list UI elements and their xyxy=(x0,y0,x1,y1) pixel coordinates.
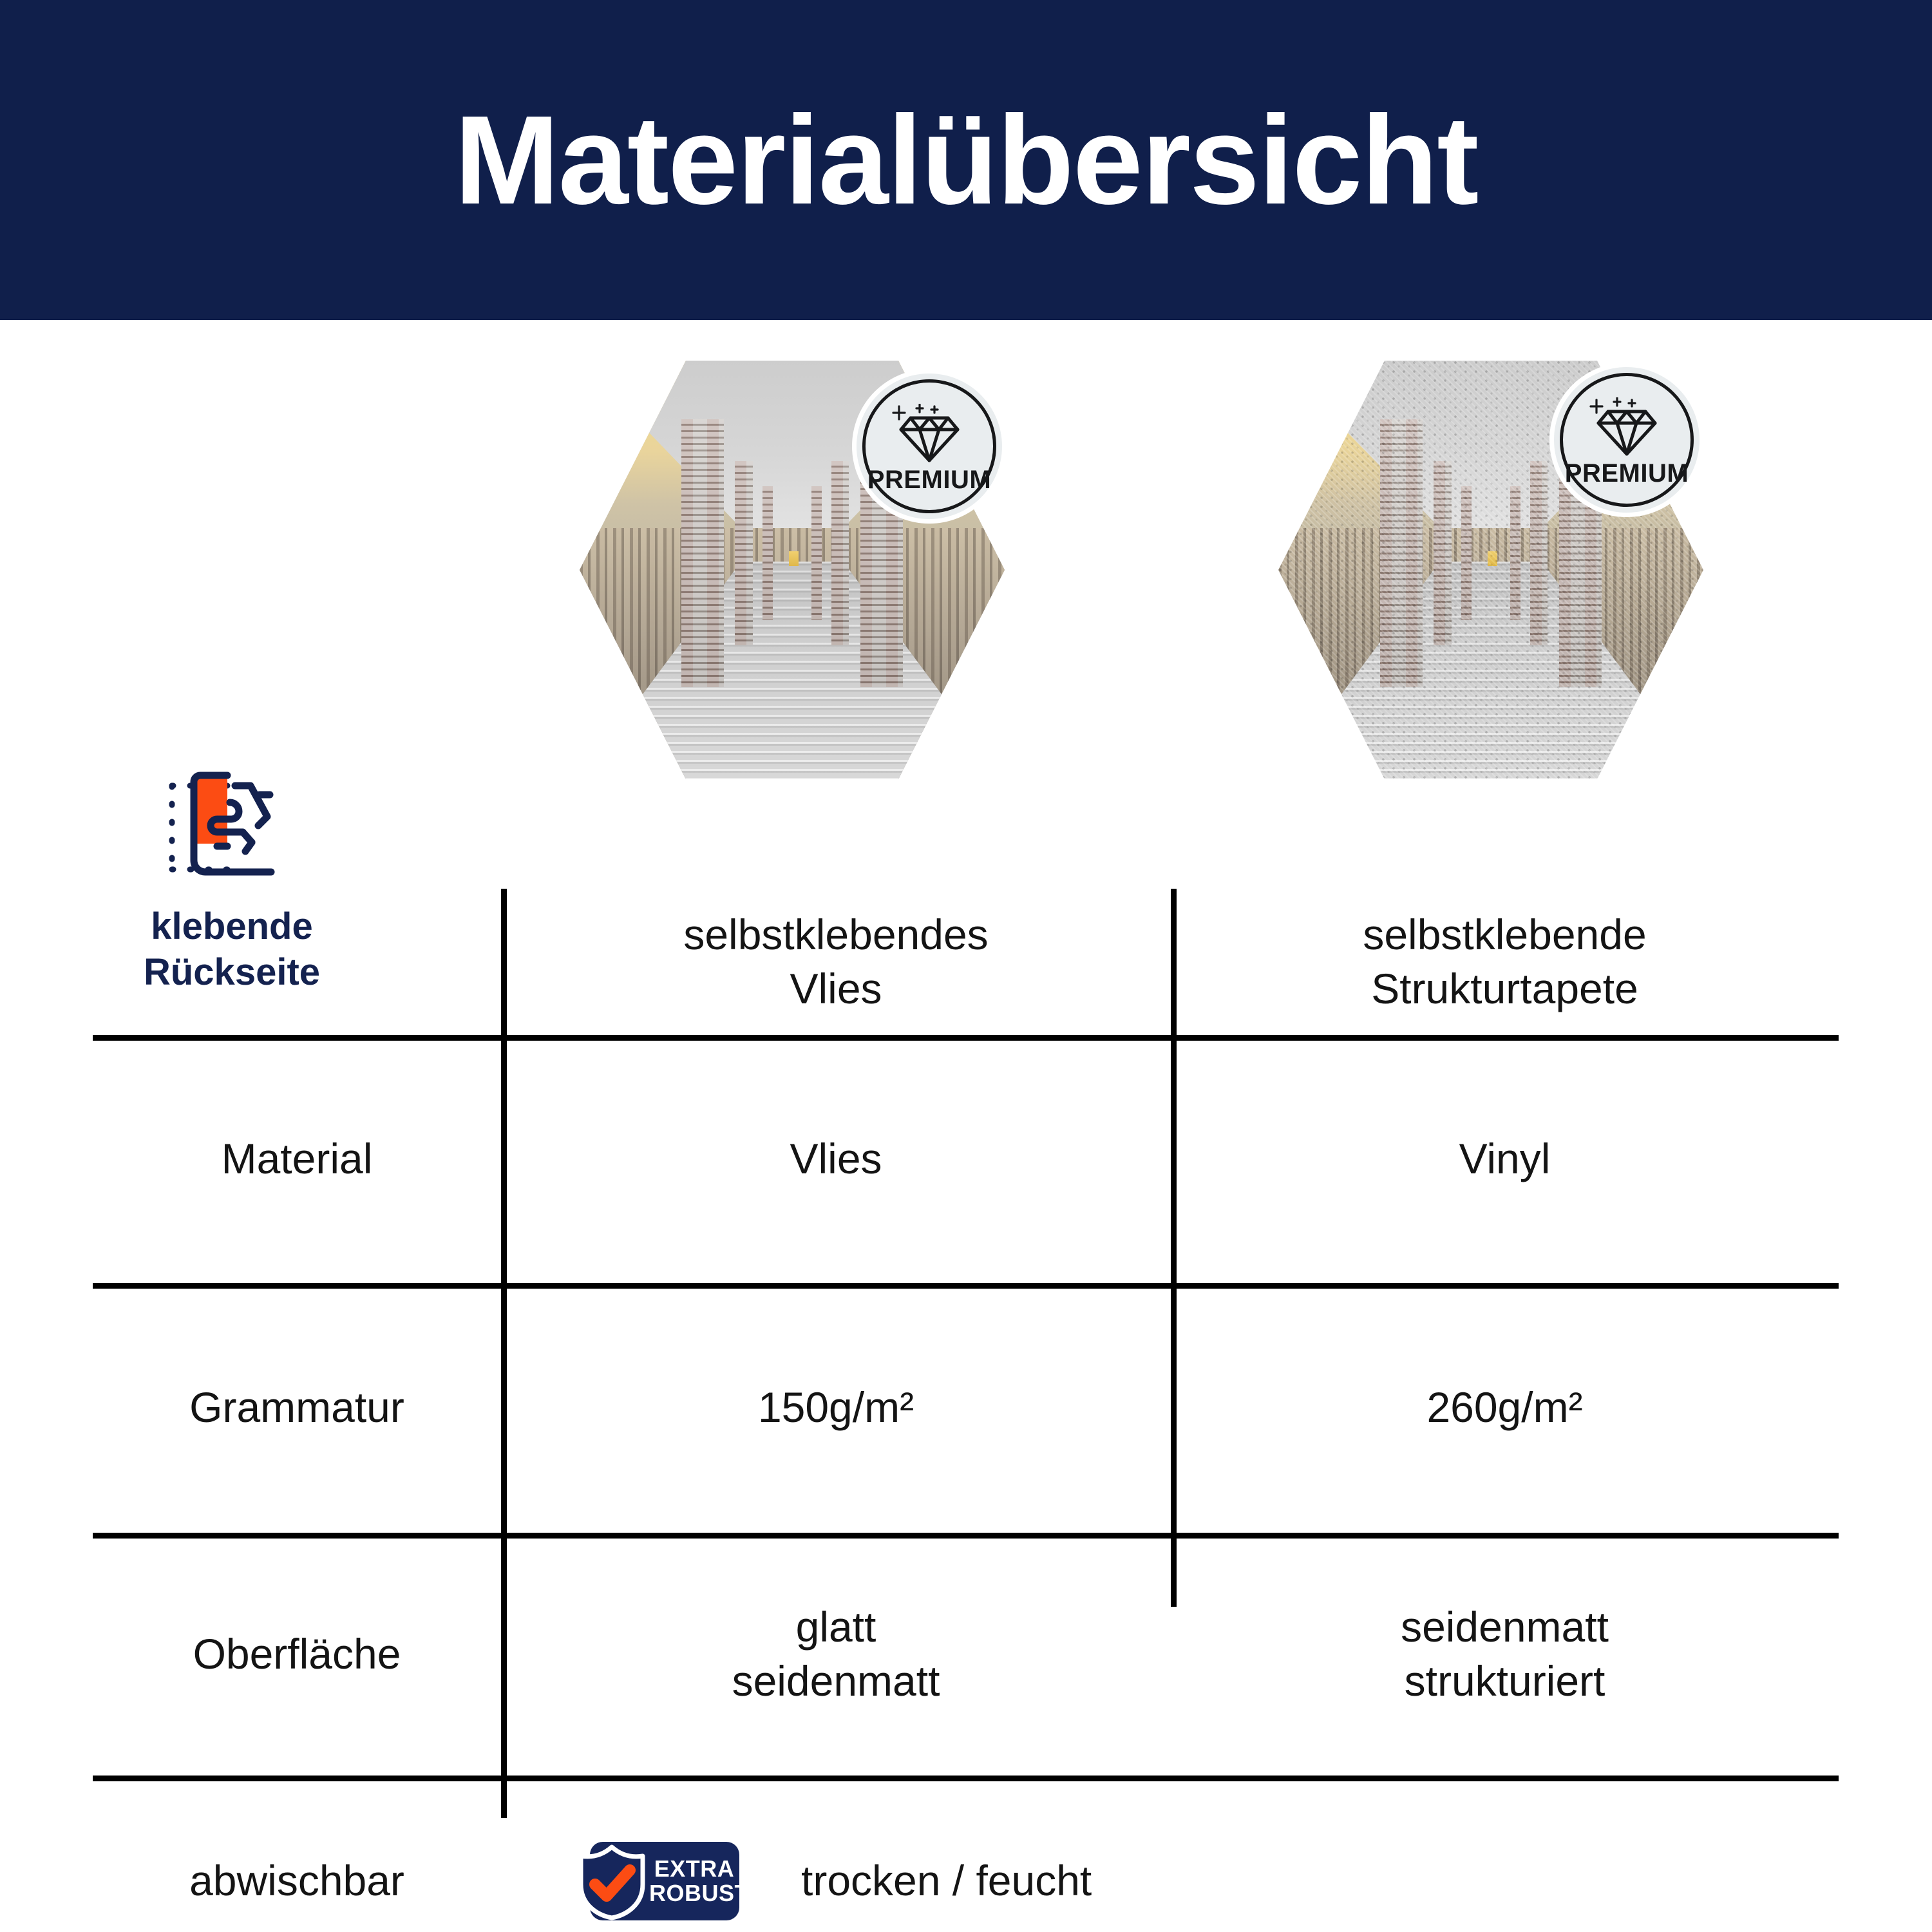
abwischbar-value-cell: EXTRA ROBUST trocken / feucht xyxy=(501,1776,1839,1932)
oberflaeche-value-strukturtapete: seidenmatt strukturiert xyxy=(1171,1533,1839,1776)
table-row: selbstklebendes Vlies selbstklebende Str… xyxy=(93,889,1839,1035)
row-label-abwischbar: abwischbar xyxy=(93,1776,501,1932)
brick-pillar xyxy=(762,486,773,620)
premium-badge: PREMIUM xyxy=(857,374,1002,519)
extra-robust-badge: EXTRA ROBUST xyxy=(590,1842,739,1920)
material-value-strukturtapete: Vinyl xyxy=(1171,1035,1839,1283)
row-label-material: Material xyxy=(93,1035,501,1283)
grammatur-value-strukturtapete: 260g/m² xyxy=(1171,1283,1839,1533)
brick-pillar xyxy=(811,486,822,620)
page-header: Materialübersicht xyxy=(0,0,1932,320)
premium-badge-label: PREMIUM xyxy=(867,466,991,495)
row-label-grammatur: Grammatur xyxy=(93,1283,501,1533)
material-comparison-table: selbstklebendes Vlies selbstklebende Str… xyxy=(93,889,1839,1932)
product-preview-strukturtapete[interactable]: PREMIUM xyxy=(1278,361,1703,779)
vanishing-point xyxy=(789,551,799,566)
material-overview-page: Materialübersicht xyxy=(0,0,1932,1932)
premium-badge-label: PREMIUM xyxy=(1565,459,1689,488)
peeling-adhesive-backing-icon xyxy=(145,766,319,889)
diamond-icon xyxy=(891,404,967,463)
diamond-icon xyxy=(1589,397,1665,457)
product-preview-row: PREMIUM xyxy=(0,361,1932,786)
abwischbar-value: trocken / feucht xyxy=(801,1854,1092,1908)
premium-badge: PREMIUM xyxy=(1554,367,1700,513)
product-name-strukturtapete-line1: selbstklebende xyxy=(1363,908,1646,961)
table-row: Material Vlies Vinyl xyxy=(93,1035,1839,1283)
row-label-oberflaeche: Oberfläche xyxy=(93,1533,501,1776)
product-name-vlies-line1: selbstklebendes xyxy=(683,908,988,961)
table-row: abwischbar EXTRA ROBUST trocken / feuc xyxy=(93,1776,1839,1932)
oberflaeche-value-vlies: glatt seidenmatt xyxy=(501,1533,1171,1776)
row-label-cell xyxy=(93,889,501,1035)
product-name-vlies: selbstklebendes Vlies xyxy=(501,889,1171,1035)
shield-check-icon xyxy=(576,1844,648,1920)
extra-robust-line1: EXTRA xyxy=(649,1857,739,1881)
product-name-vlies-line2: Vlies xyxy=(683,962,988,1016)
table-row: Oberfläche glatt seidenmatt seidenmatt s… xyxy=(93,1533,1839,1776)
oberflaeche-value-strukturtapete-line1: seidenmatt xyxy=(1401,1600,1609,1654)
brick-pillar xyxy=(831,461,849,645)
oberflaeche-value-vlies-line2: seidenmatt xyxy=(732,1654,940,1708)
brick-pillar xyxy=(681,419,724,687)
material-value-vlies: Vlies xyxy=(501,1035,1171,1283)
oberflaeche-value-vlies-line1: glatt xyxy=(732,1600,940,1654)
extra-robust-line2: ROBUST xyxy=(649,1881,739,1906)
product-preview-vlies[interactable]: PREMIUM xyxy=(580,361,1005,779)
page-title: Materialübersicht xyxy=(455,97,1478,223)
product-name-strukturtapete: selbstklebende Strukturtapete xyxy=(1171,889,1839,1035)
oberflaeche-value-strukturtapete-line2: strukturiert xyxy=(1401,1654,1609,1708)
brick-pillar xyxy=(735,461,753,645)
product-name-strukturtapete-line2: Strukturtapete xyxy=(1363,962,1646,1016)
grammatur-value-vlies: 150g/m² xyxy=(501,1283,1171,1533)
table-row: Grammatur 150g/m² 260g/m² xyxy=(93,1283,1839,1533)
